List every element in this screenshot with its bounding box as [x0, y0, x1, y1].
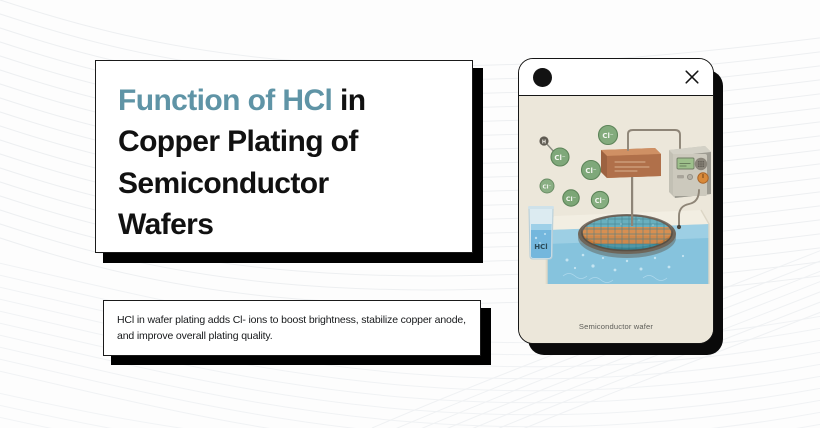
- chloride-ion: Cl⁻: [551, 148, 569, 166]
- svg-text:Cl⁻: Cl⁻: [543, 184, 552, 190]
- device-screen: HCl H Cl⁻: [519, 96, 713, 343]
- hcl-beaker: HCl: [528, 206, 554, 259]
- svg-text:Cl⁻: Cl⁻: [602, 132, 614, 140]
- title-card: Function of HCl in Copper Plating of Sem…: [95, 60, 473, 253]
- device-titlebar: [519, 59, 713, 96]
- title-line4: Wafers: [118, 208, 213, 241]
- subtitle-card: HCl in wafer plating adds Cl- ions to bo…: [103, 300, 481, 356]
- semiconductor-wafer-disc: [578, 213, 676, 259]
- title-line1-rest: in: [332, 84, 365, 117]
- chloride-ion: Cl⁻: [591, 191, 608, 208]
- title-line2: Copper Plating of: [118, 125, 358, 158]
- close-x-icon[interactable]: [683, 68, 701, 86]
- copper-plating-illustration: HCl H Cl⁻: [523, 98, 711, 308]
- circle-dot-icon: [533, 68, 552, 87]
- wafer-caption: Semiconductor wafer: [519, 322, 713, 331]
- device-frame: HCl H Cl⁻: [518, 58, 714, 344]
- svg-text:Cl⁻: Cl⁻: [595, 197, 606, 205]
- svg-text:Cl⁻: Cl⁻: [585, 167, 597, 175]
- power-supply-unit: [669, 146, 711, 198]
- page-title: Function of HCl in Copper Plating of Sem…: [118, 80, 458, 246]
- svg-text:Cl⁻: Cl⁻: [566, 195, 576, 203]
- svg-text:H: H: [542, 140, 546, 146]
- chloride-ion: Cl⁻: [540, 179, 554, 193]
- title-line3: Semiconductor: [118, 167, 329, 200]
- chloride-ion: Cl⁻: [563, 190, 579, 206]
- svg-text:Cl⁻: Cl⁻: [554, 154, 566, 162]
- poster-canvas: Function of HCl in Copper Plating of Sem…: [0, 0, 820, 428]
- chloride-ion: Cl⁻: [582, 161, 601, 180]
- title-accent-text: Function of HCl: [118, 84, 332, 117]
- wire-terminal: [677, 225, 681, 229]
- svg-text:HCl: HCl: [534, 243, 547, 251]
- subtitle-text: HCl in wafer plating adds Cl- ions to bo…: [117, 312, 468, 345]
- chloride-ion: Cl⁻: [599, 126, 618, 145]
